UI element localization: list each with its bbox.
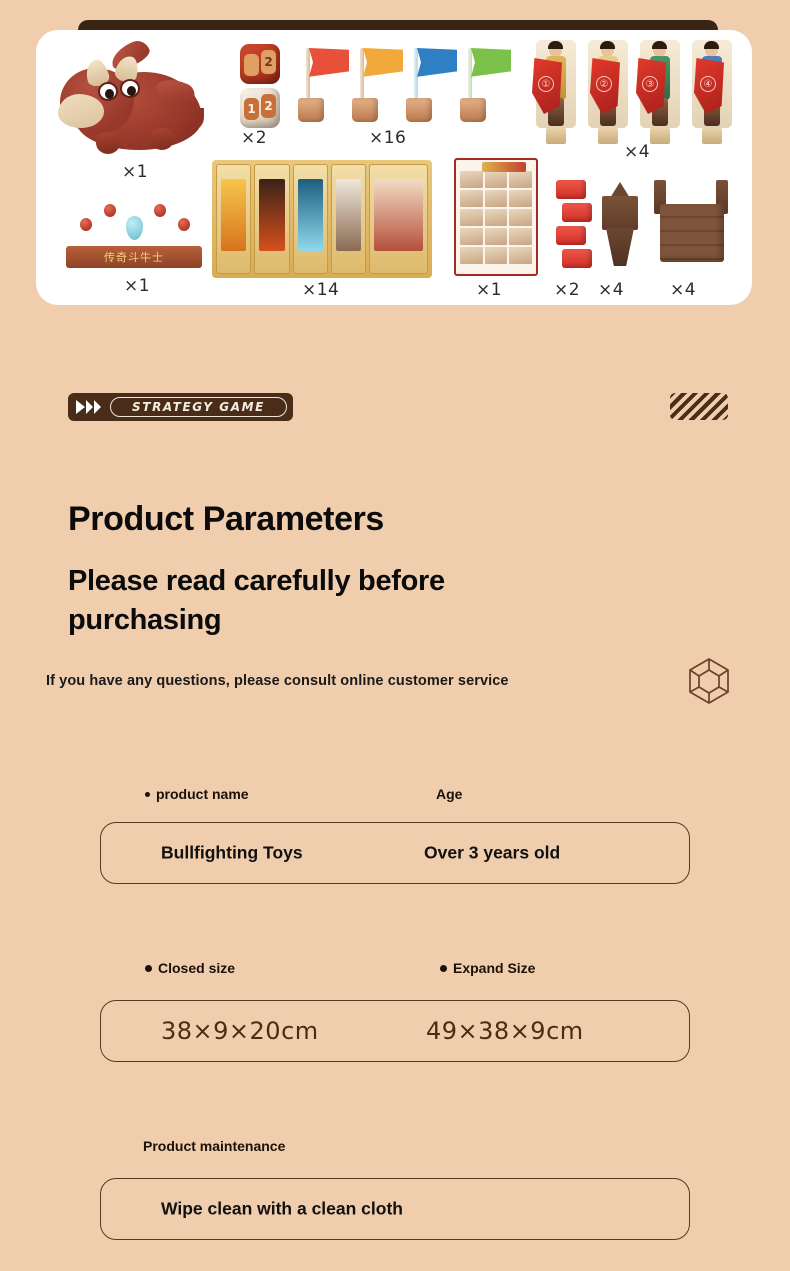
label-text: product name: [156, 786, 249, 802]
matador-number: ④: [700, 76, 716, 92]
label-text: Product maintenance: [143, 1138, 285, 1154]
cube-icon: [683, 655, 735, 707]
value-age: Over 3 years old: [424, 843, 560, 864]
label-product-name: product name: [145, 786, 249, 802]
crown-piece: 传奇斗牛士: [66, 198, 206, 276]
components-hero: ×1 2 1 2 ×2: [0, 0, 790, 320]
red-brick-barriers: [556, 180, 586, 268]
count-crown: ×1: [124, 276, 150, 296]
param-row-product: product name Age Bullfighting Toys Over …: [0, 786, 790, 812]
value-expand-size: 49×38×9cm: [426, 1017, 584, 1045]
customer-service-note: If you have any questions, please consul…: [46, 673, 509, 689]
cone-piece: [598, 182, 642, 266]
param-row-maintenance: Product maintenance Wipe clean with a cl…: [0, 1138, 790, 1164]
matador-number: ①: [538, 76, 554, 92]
bullet-dot: [145, 965, 152, 972]
wooden-fence: [654, 180, 730, 266]
param-box-maintenance[interactable]: Wipe clean with a clean cloth: [100, 1178, 690, 1240]
value-closed-size: 38×9×20cm: [161, 1017, 319, 1045]
page-subtitle: Please read carefully before purchasing: [68, 562, 568, 641]
crown-band-text: 传奇斗牛士: [104, 249, 164, 265]
count-dice: ×2: [241, 128, 267, 148]
bull-figure: [58, 42, 218, 162]
label-text: Expand Size: [453, 960, 535, 976]
count-flags: ×16: [369, 128, 406, 148]
count-matadors: ×4: [624, 142, 650, 162]
bullet-dot: [145, 792, 150, 797]
label-product-maintenance: Product maintenance: [143, 1138, 285, 1154]
value-product-name: Bullfighting Toys: [161, 843, 303, 864]
count-cone: ×4: [598, 280, 624, 300]
chevrons-icon: [76, 400, 101, 414]
label-text: Closed size: [158, 960, 235, 976]
matador-standees-group: ① ② ③ ④: [532, 36, 738, 146]
label-closed-size: Closed size: [145, 960, 235, 976]
label-expand-size: Expand Size: [440, 960, 535, 976]
strategy-game-label: STRATEGY GAME: [132, 400, 265, 414]
param-row-size: Closed size Expand Size 38×9×20cm 49×38×…: [0, 960, 790, 986]
count-bull: ×1: [122, 162, 148, 182]
bullet-dot: [440, 965, 447, 972]
label-text: Age: [436, 786, 462, 802]
strategy-banner-row: STRATEGY GAME: [0, 393, 790, 435]
hatch-pattern-icon: [670, 393, 728, 420]
strategy-game-banner: STRATEGY GAME: [68, 393, 293, 421]
matador-number: ②: [596, 76, 612, 92]
count-bricks: ×2: [554, 280, 580, 300]
dice-group: 2 1 2: [236, 44, 288, 136]
components-card: ×1 2 1 2 ×2: [36, 30, 752, 305]
rules-sheet: [454, 158, 538, 276]
param-box-size[interactable]: 38×9×20cm 49×38×9cm: [100, 1000, 690, 1062]
count-cards: ×14: [302, 280, 339, 300]
count-rules-sheet: ×1: [476, 280, 502, 300]
label-age: Age: [436, 786, 462, 802]
page-title: Product Parameters: [68, 500, 384, 539]
value-product-maintenance: Wipe clean with a clean cloth: [161, 1199, 403, 1220]
game-cards-group: [212, 160, 432, 278]
param-box-product[interactable]: Bullfighting Toys Over 3 years old: [100, 822, 690, 884]
flags-group: [298, 42, 508, 134]
matador-number: ③: [642, 76, 658, 92]
strategy-game-label-box: STRATEGY GAME: [110, 397, 287, 417]
count-fence: ×4: [670, 280, 696, 300]
